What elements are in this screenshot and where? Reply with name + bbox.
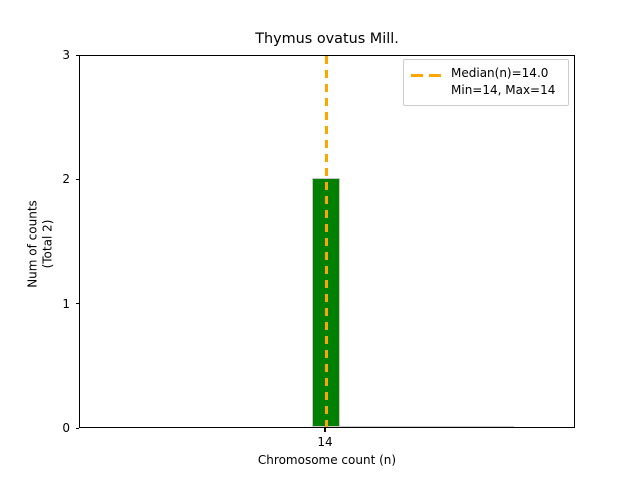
legend-minmax-label: Min=14, Max=14	[451, 82, 555, 99]
figure-canvas: Thymus ovatus Mill. 0 1 2 3 14	[0, 0, 640, 480]
x-tick-label: 14	[285, 434, 365, 450]
legend-text: Median(n)=14.0 Min=14, Max=14	[451, 65, 555, 99]
y-tick-label: 2	[62, 171, 70, 187]
baseline-stub	[326, 426, 514, 427]
median-line	[325, 56, 328, 427]
y-tick-label: 3	[62, 47, 70, 63]
legend-median-label: Median(n)=14.0	[451, 65, 555, 82]
plot-area	[79, 55, 575, 428]
plot-inner	[80, 56, 574, 427]
y-tick-label: 1	[62, 296, 70, 312]
y-axis-label: Num of counts (Total 2)	[26, 58, 56, 431]
x-axis-label: Chromosome count (n)	[79, 452, 575, 468]
y-tick-label: 0	[62, 420, 70, 436]
x-tick-mark	[324, 428, 325, 432]
chart-title: Thymus ovatus Mill.	[79, 30, 575, 48]
legend-dashed-line-icon	[410, 67, 444, 83]
legend: Median(n)=14.0 Min=14, Max=14	[403, 59, 569, 106]
